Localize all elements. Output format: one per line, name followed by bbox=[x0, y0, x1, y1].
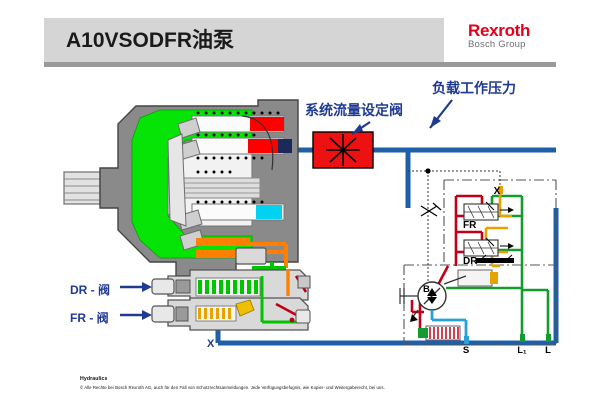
svg-text:X: X bbox=[494, 186, 501, 197]
label-port-x-pipe: X bbox=[207, 338, 214, 350]
svg-text:L: L bbox=[545, 345, 551, 356]
valve-lower-bar bbox=[476, 258, 514, 263]
svg-text:FR: FR bbox=[463, 220, 477, 231]
dr-spring-green bbox=[198, 280, 258, 294]
callout-flow-setting-valve: 系统流量设定阀 bbox=[305, 100, 403, 120]
svg-text:S: S bbox=[463, 345, 469, 356]
slide-canvas: A10VSODFR油泵 Rexroth Bosch Group bbox=[0, 0, 600, 414]
label-fr-valve: FR - 阀 bbox=[70, 309, 109, 326]
footer-section-label: Hydraulics bbox=[80, 376, 385, 382]
svg-text:B: B bbox=[423, 284, 430, 295]
pilot-junction-dot bbox=[425, 168, 430, 173]
pump-diagram-artwork: X FR DR B S L₁ L bbox=[0, 0, 600, 414]
pilot-orange-block bbox=[490, 272, 498, 284]
valve-block bbox=[152, 270, 310, 330]
footer: Hydraulics © Alle Rechte bei Bosch Rexro… bbox=[80, 376, 385, 390]
drive-shaft bbox=[64, 172, 100, 204]
valve-symbol-fr bbox=[464, 204, 498, 220]
label-dr-valve: DR - 阀 bbox=[70, 281, 110, 298]
valve-symbol-dr bbox=[464, 240, 498, 256]
pump-port-flange bbox=[236, 248, 266, 264]
drain-cyl-body bbox=[458, 270, 492, 286]
fr-pointer-arrow bbox=[120, 310, 152, 320]
dr-pointer-arrow bbox=[120, 282, 152, 292]
valve-arrowheads bbox=[508, 207, 514, 249]
flow-setting-valve-symbol bbox=[313, 132, 373, 168]
schematic-filter-symbol bbox=[418, 326, 460, 340]
footer-copyright: © Alle Rechte bei Bosch Rexroth AG, auch… bbox=[80, 385, 385, 390]
callout-load-working-pressure: 负载工作压力 bbox=[432, 78, 516, 98]
svg-text:L₁: L₁ bbox=[517, 345, 526, 355]
svg-text:DR: DR bbox=[463, 256, 478, 267]
pilot-adjust-symbol bbox=[421, 203, 441, 216]
